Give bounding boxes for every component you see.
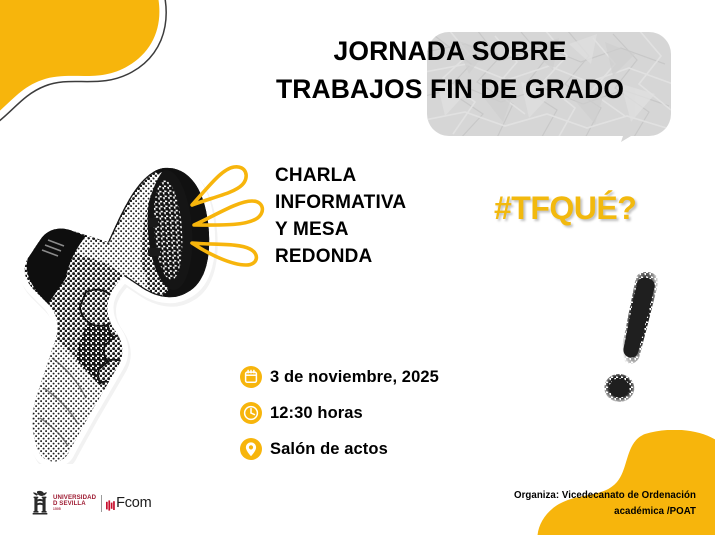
detail-text-location: Salón de actos: [270, 440, 388, 459]
event-details-list: 3 de noviembre, 2025 12:30 horas: [240, 361, 439, 469]
hashtag-text: #TFQUÉ?: [494, 190, 636, 227]
organiser-credit: Organiza: Vicedecanato de Ordenación aca…: [514, 488, 696, 520]
poster-headline: JORNADA SOBRE TRABAJOS FIN DE GRADO: [215, 33, 685, 108]
fcom-mark-icon: [106, 498, 115, 509]
fcom-logo: Fcom: [106, 495, 151, 511]
exclamation-mark-halftone: [596, 268, 676, 412]
poster-canvas: JORNADA SOBRE TRABAJOS FIN DE GRADO: [0, 0, 715, 535]
detail-row-location: Salón de actos: [240, 433, 439, 465]
us-wordmark-line-3: 1505: [53, 508, 96, 511]
logo-divider: [101, 495, 102, 512]
clock-icon: [240, 402, 262, 424]
universidad-de-sevilla-logo: UNIVERSIDAD D SEVILLA 1505: [30, 490, 96, 516]
hercules-columns-emblem-icon: [30, 490, 50, 516]
institutional-logos: UNIVERSIDAD D SEVILLA 1505 Fcom: [30, 490, 152, 516]
subtitle-line-2: INFORMATIVA: [275, 190, 406, 217]
headline-line-1: JORNADA SOBRE: [215, 33, 685, 71]
subtitle-line-1: CHARLA: [275, 163, 406, 190]
organiser-line-1: Organiza: Vicedecanato de Ordenación: [514, 488, 696, 504]
location-pin-icon: [240, 438, 262, 460]
detail-row-time: 12:30 horas: [240, 397, 439, 429]
sound-wave-loops: [188, 163, 268, 273]
subtitle-line-3: Y MESA: [275, 217, 406, 244]
poster-subtitle: CHARLA INFORMATIVA Y MESA REDONDA: [275, 163, 406, 271]
subtitle-line-4: REDONDA: [275, 244, 406, 271]
headline-line-2: TRABAJOS FIN DE GRADO: [215, 71, 685, 109]
detail-text-date: 3 de noviembre, 2025: [270, 368, 439, 387]
detail-text-time: 12:30 horas: [270, 404, 363, 423]
yellow-blob-top-left: [0, 0, 220, 133]
organiser-line-2: académica /POAT: [514, 504, 696, 520]
universidad-de-sevilla-wordmark: UNIVERSIDAD D SEVILLA 1505: [53, 495, 96, 511]
calendar-icon: [240, 366, 262, 388]
fcom-text: Fcom: [116, 495, 151, 511]
detail-row-date: 3 de noviembre, 2025: [240, 361, 439, 393]
